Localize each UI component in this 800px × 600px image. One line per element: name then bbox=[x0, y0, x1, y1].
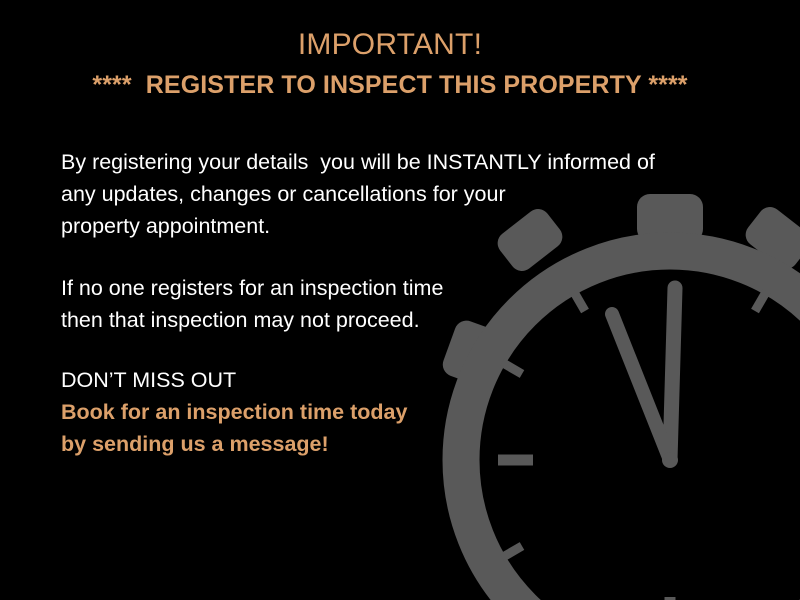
headline-register-to-inspect: **** REGISTER TO INSPECT THIS PROPERTY *… bbox=[0, 68, 780, 102]
paragraph-spacer-2 bbox=[61, 336, 721, 364]
paragraph-1-line-3: property appointment. bbox=[61, 210, 721, 242]
paragraph-no-registration-warning: If no one registers for an inspection ti… bbox=[61, 272, 721, 336]
headline-block: IMPORTANT! **** REGISTER TO INSPECT THIS… bbox=[0, 26, 780, 102]
call-to-action-block: DON’T MISS OUT Book for an inspection ti… bbox=[61, 364, 721, 460]
promotional-slide: IMPORTANT! **** REGISTER TO INSPECT THIS… bbox=[0, 0, 800, 600]
paragraph-1-line-1: By registering your details you will be … bbox=[61, 146, 721, 178]
paragraph-1-line-2: any updates, changes or cancellations fo… bbox=[61, 178, 721, 210]
paragraph-spacer-1 bbox=[61, 242, 721, 272]
cta-send-message: by sending us a message! bbox=[61, 428, 721, 460]
paragraph-2-line-2: then that inspection may not proceed. bbox=[61, 304, 721, 336]
paragraph-registering-benefits: By registering your details you will be … bbox=[61, 146, 721, 242]
body-copy-block: By registering your details you will be … bbox=[61, 146, 721, 460]
cta-book-inspection: Book for an inspection time today bbox=[61, 396, 721, 428]
cta-dont-miss-out: DON’T MISS OUT bbox=[61, 364, 721, 396]
headline-important: IMPORTANT! bbox=[0, 26, 780, 64]
paragraph-2-line-1: If no one registers for an inspection ti… bbox=[61, 272, 721, 304]
